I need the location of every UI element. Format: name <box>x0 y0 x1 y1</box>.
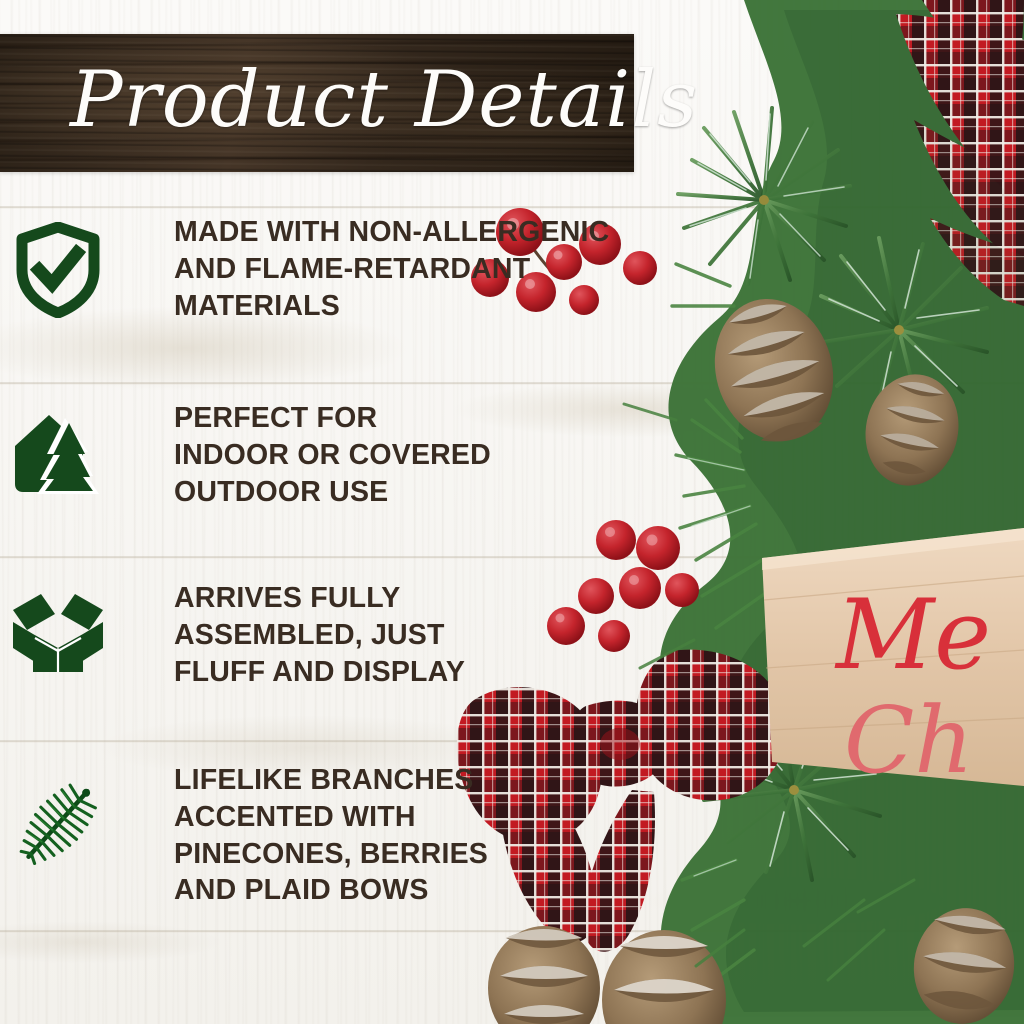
open-box-icon <box>0 580 116 674</box>
feature-item-indoor-outdoor: PERFECT FOR INDOOR OR COVERED OUTDOOR US… <box>0 400 491 510</box>
feature-text: MADE WITH NON-ALLERGENIC AND FLAME-RETAR… <box>174 214 609 324</box>
feature-item-branches: LIFELIKE BRANCHES ACCENTED WITH PINECONE… <box>0 762 488 909</box>
plank-seam <box>0 556 1024 559</box>
plank-seam <box>0 740 1024 743</box>
pine-sprig-icon <box>0 762 116 874</box>
page-title: Product Details <box>0 61 698 139</box>
shield-check-icon <box>0 214 116 318</box>
product-details-infographic: Me Ch <box>0 0 1024 1024</box>
plank-seam <box>0 930 1024 933</box>
product-details-banner: Product Details <box>0 34 634 172</box>
feature-text: ARRIVES FULLY ASSEMBLED, JUST FLUFF AND … <box>174 580 465 690</box>
feature-text: LIFELIKE BRANCHES ACCENTED WITH PINECONE… <box>174 762 488 909</box>
house-tree-icon <box>0 400 116 496</box>
plank-seam <box>0 206 1024 209</box>
feature-item-assembled: ARRIVES FULLY ASSEMBLED, JUST FLUFF AND … <box>0 580 465 690</box>
plank-seam <box>0 382 1024 385</box>
feature-item-materials: MADE WITH NON-ALLERGENIC AND FLAME-RETAR… <box>0 214 609 324</box>
feature-text: PERFECT FOR INDOOR OR COVERED OUTDOOR US… <box>174 400 491 510</box>
